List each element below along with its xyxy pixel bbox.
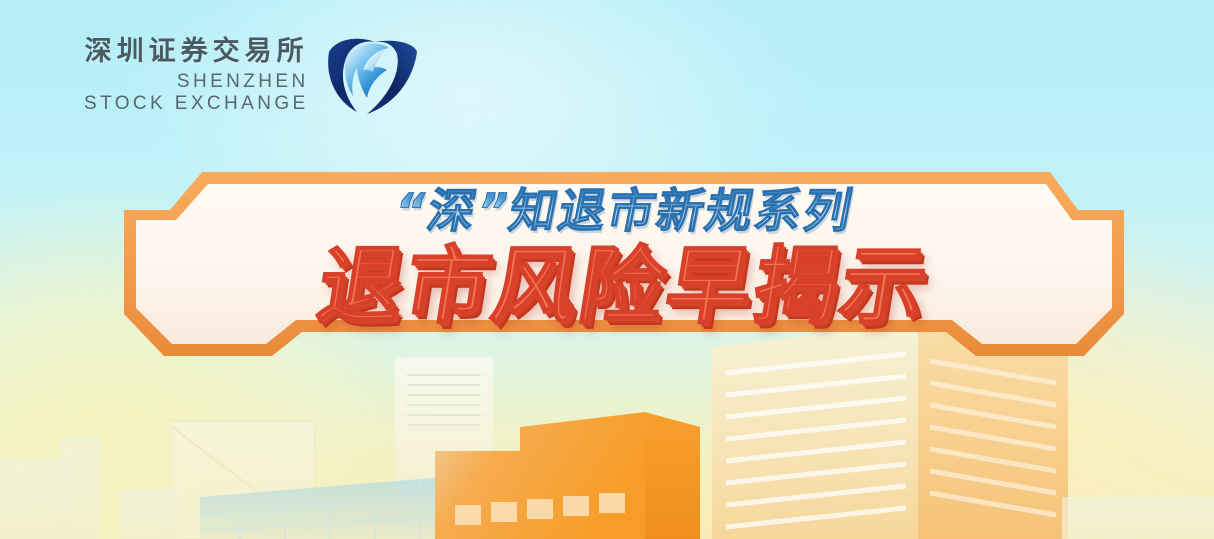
headline-card-content: “深”知退市新规系列 退市风险早揭示 (116, 164, 1132, 379)
brand-name-cn: 深圳证券交易所 (85, 38, 309, 65)
banner-subtitle: “深”知退市新规系列 (390, 186, 858, 239)
headline-card: “深”知退市新规系列 退市风险早揭示 (116, 164, 1132, 379)
szse-logo: 深圳证券交易所 SHENZHEN STOCK EXCHANGE (84, 38, 419, 122)
poster-canvas: 深圳证券交易所 SHENZHEN STOCK EXCHANGE (0, 0, 1214, 539)
szse-leaf-logo-icon (323, 34, 419, 122)
banner-headline: 退市风险早揭示 (312, 241, 935, 332)
brand-name-en-line2: STOCK EXCHANGE (84, 94, 309, 113)
brand-name-en-line1: SHENZHEN (177, 72, 309, 91)
logo-text-block: 深圳证券交易所 SHENZHEN STOCK EXCHANGE (84, 38, 309, 113)
